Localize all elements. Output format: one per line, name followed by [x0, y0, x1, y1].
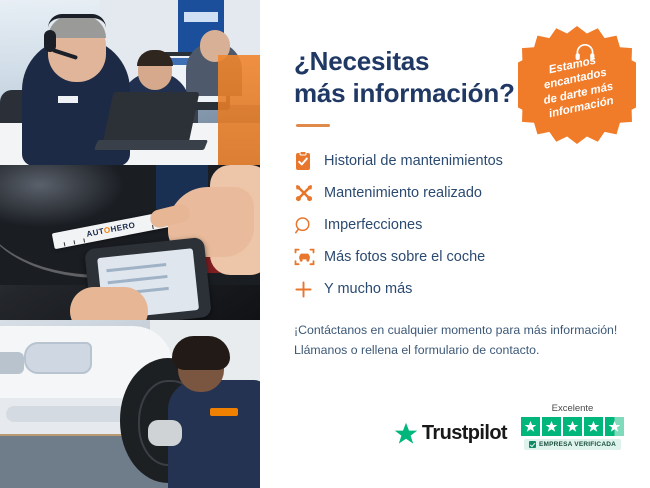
- clipboard-check-icon: [294, 151, 324, 171]
- call-center-agent-photo: [0, 0, 260, 165]
- list-item: Mantenimiento realizado: [294, 177, 624, 209]
- content-panel: ¿Necesitas más información? Historial de…: [260, 0, 650, 488]
- photo-column: AUTOHERO: [0, 0, 260, 488]
- laptop-screen: [102, 92, 199, 144]
- page-title: ¿Necesitas más información?: [294, 46, 534, 109]
- feature-label: Mantenimiento realizado: [324, 185, 482, 201]
- star-filled: [563, 417, 582, 436]
- laptop-base: [94, 140, 208, 150]
- headset-band: [48, 14, 106, 28]
- feature-list: Historial de mantenimientos Mantenimient…: [294, 145, 624, 305]
- rating-label: Excelente: [552, 403, 594, 414]
- feature-label: Más fotos sobre el coche: [324, 249, 485, 265]
- list-item: Y mucho más: [294, 273, 624, 305]
- contact-line-1: ¡Contáctanos en cualquier momento para m…: [294, 323, 617, 337]
- feature-label: Y mucho más: [324, 281, 412, 297]
- star-filled: [584, 417, 603, 436]
- verified-company-badge: EMPRESA VERIFICADA: [524, 439, 621, 450]
- orange-equipment: [218, 55, 260, 165]
- trustpilot-wordmark: Trustpilot: [422, 422, 507, 445]
- trustpilot-block[interactable]: Trustpilot Excelente EMPRESA VERIFICADA: [394, 403, 624, 450]
- mechanic-glove: [148, 420, 182, 446]
- list-item: Más fotos sobre el coche: [294, 241, 624, 273]
- contact-line-2: Llámanos o rellena el formulario de cont…: [294, 343, 539, 357]
- support-badge: Estamos encantados de darte más informac…: [518, 26, 636, 144]
- trustpilot-logo[interactable]: Trustpilot: [394, 422, 507, 450]
- title-line-2: más información?: [294, 78, 515, 108]
- plus-icon: [294, 280, 324, 299]
- agent-name-tag: [58, 96, 78, 103]
- trustpilot-rating: Excelente EMPRESA VERIFICADA: [521, 403, 624, 450]
- verified-label: EMPRESA VERIFICADA: [539, 441, 616, 448]
- list-item: Imperfecciones: [294, 209, 624, 241]
- title-divider: [296, 124, 330, 127]
- info-promo-card: AUTOHERO: [0, 0, 650, 488]
- feature-label: Historial de mantenimientos: [324, 153, 503, 169]
- title-line-1: ¿Necesitas: [294, 46, 429, 76]
- contact-text: ¡Contáctanos en cualquier momento para m…: [294, 321, 624, 361]
- star-rating: [521, 417, 624, 436]
- headlight: [24, 342, 92, 374]
- star-filled: [521, 417, 540, 436]
- trustpilot-star-icon: [394, 422, 418, 445]
- car-inspection-ruler-tablet-photo: AUTOHERO: [0, 165, 260, 320]
- mechanic-hair: [172, 336, 230, 370]
- car-photo-frame-icon: [294, 247, 324, 267]
- star-filled: [542, 417, 561, 436]
- star-half: [605, 417, 624, 436]
- magnifier-icon: [294, 216, 324, 235]
- verified-check-icon: [529, 441, 536, 448]
- car-grille: [0, 352, 24, 374]
- list-item: Historial de mantenimientos: [294, 145, 624, 177]
- hand-holding-tablet: [70, 287, 148, 320]
- mechanic-shirt-logo: [210, 408, 238, 416]
- feature-label: Imperfecciones: [324, 217, 422, 233]
- tools-icon: [294, 183, 324, 203]
- mechanic-wheel-service-photo: [0, 320, 260, 488]
